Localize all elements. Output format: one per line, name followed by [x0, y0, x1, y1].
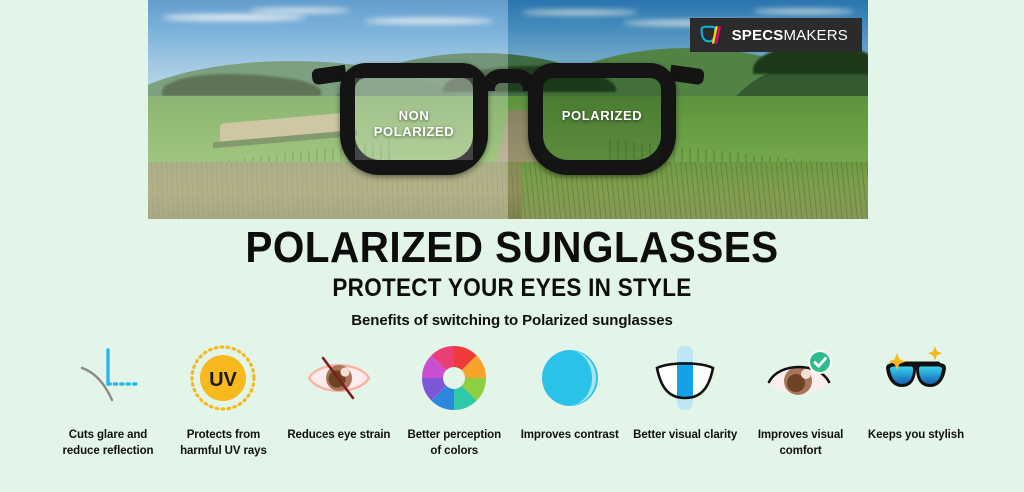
benefit-item: Better visual clarity [633, 342, 737, 444]
benefit-label: Reduces eye strain [287, 428, 390, 444]
brand-logo[interactable]: SPECSMAKERS [690, 18, 862, 52]
benefit-label: Improves contrast [521, 428, 619, 444]
benefit-item: Improves visual comfort [749, 342, 853, 459]
benefits-row: Cuts glare and reduce reflection UV Prot… [56, 342, 968, 459]
brand-name-bold: SPECS [732, 27, 784, 44]
benefit-label: Improves visual comfort [749, 428, 853, 459]
benefit-item: Reduces eye strain [287, 342, 391, 444]
eye-check-icon [765, 342, 837, 414]
lens-label-non-polarized: NON POLARIZED [355, 108, 473, 141]
benefit-label: Better perception of colors [402, 428, 506, 459]
benefit-item: UV Protects from harmful UV rays [171, 342, 275, 459]
eye-strain-blocked-icon [303, 342, 375, 414]
contrast-circle-icon [534, 342, 606, 414]
uv-shield-icon: UV [187, 342, 259, 414]
lens-label-polarized: POLARIZED [543, 108, 661, 124]
benefit-label: Cuts glare and reduce reflection [56, 428, 160, 459]
color-wheel-icon [418, 342, 490, 414]
benefit-item: Keeps you stylish [864, 342, 968, 444]
benefit-item: Cuts glare and reduce reflection [56, 342, 160, 459]
benefit-label: Protects from harmful UV rays [171, 428, 275, 459]
sunglasses-overlay: NON POLARIZED POLARIZED [340, 63, 676, 181]
benefits-lead-text: Benefits of switching to Polarized sungl… [0, 312, 1024, 329]
benefit-item: Better perception of colors [402, 342, 506, 459]
lens-clarity-icon [649, 342, 721, 414]
glare-refraction-icon [72, 342, 144, 414]
sunglasses-sparkle-icon [880, 342, 952, 414]
specsmakers-lens-icon [700, 25, 724, 45]
lens-polarized: POLARIZED [528, 63, 676, 175]
infographic-page: NON POLARIZED POLARIZED SPECSMAKERS [0, 0, 1024, 492]
page-subtitle: PROTECT YOUR EYES IN STYLE [51, 276, 973, 301]
hero-banner: NON POLARIZED POLARIZED SPECSMAKERS [148, 0, 868, 219]
brand-name-light: MAKERS [783, 27, 848, 44]
lens-label-line1: NON [399, 108, 430, 123]
benefit-label: Keeps you stylish [868, 428, 964, 444]
lens-non-polarized: NON POLARIZED [340, 63, 488, 175]
lens-label-line2: POLARIZED [374, 124, 455, 139]
brand-logo-text: SPECSMAKERS [732, 27, 848, 44]
benefit-item: Improves contrast [518, 342, 622, 444]
benefit-label: Better visual clarity [633, 428, 737, 444]
page-title: POLARIZED SUNGLASSES [41, 226, 983, 270]
uv-badge-text: UV [210, 369, 238, 391]
